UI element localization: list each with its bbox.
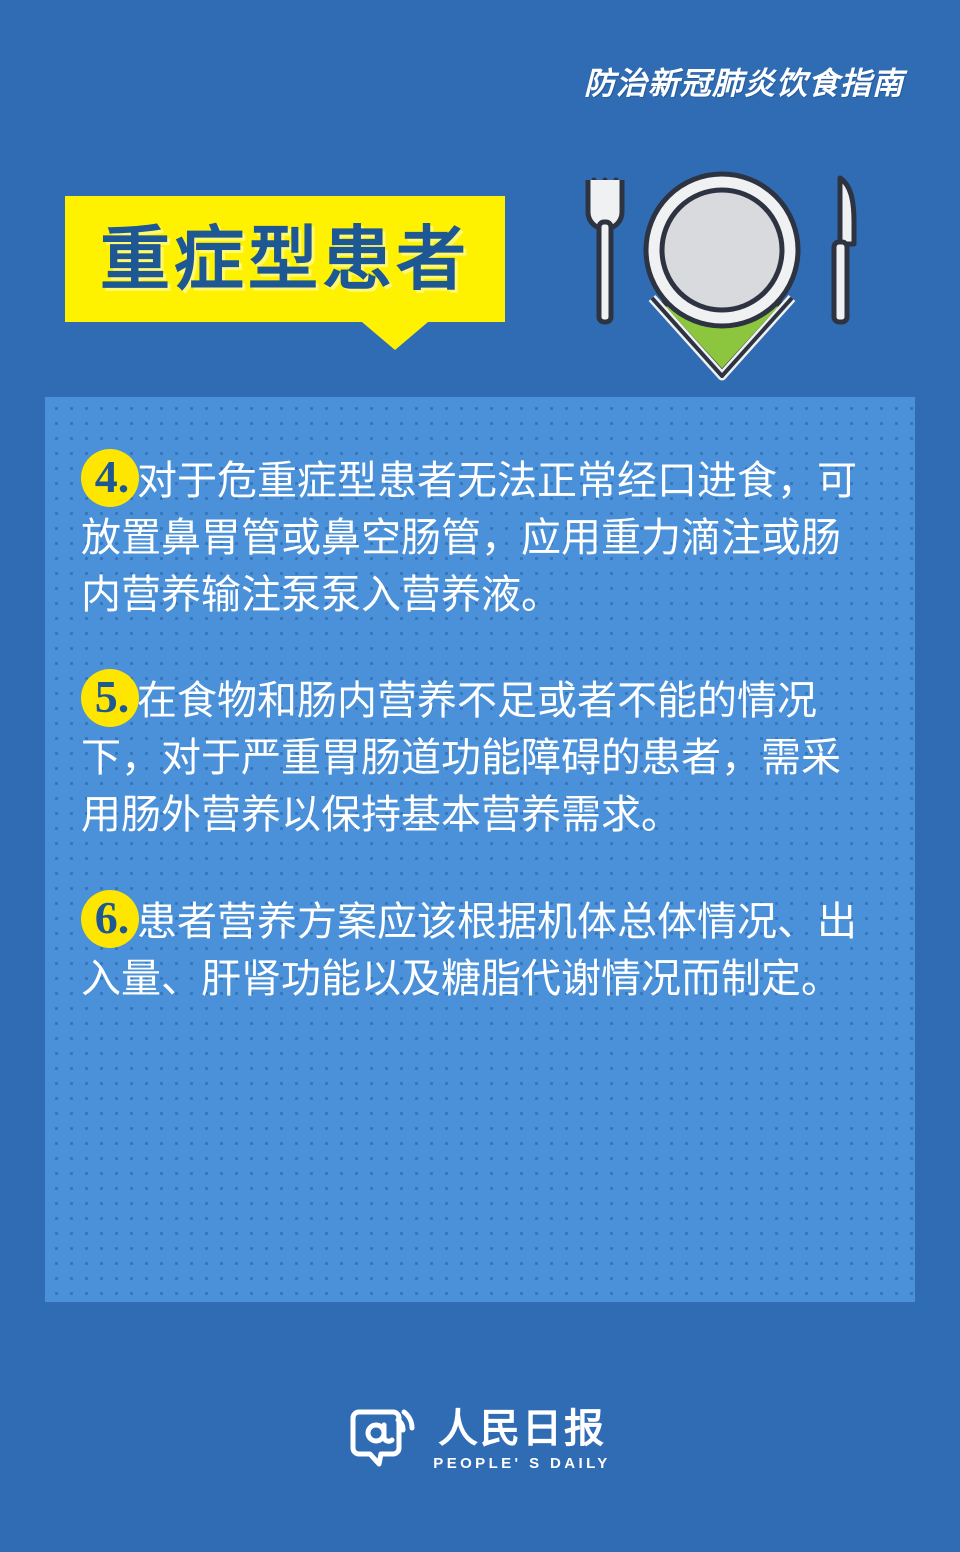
logo-text: 人民日报 PEOPLE' S DAILY	[433, 1409, 610, 1471]
footer-logo: 人民日报 PEOPLE' S DAILY	[0, 1392, 960, 1488]
fork-icon	[588, 180, 622, 322]
section-banner: 重症型患者	[65, 196, 505, 322]
plate-icon	[646, 174, 798, 326]
item-number-badge: 6.	[81, 890, 139, 948]
banner-label: 重症型患者	[65, 224, 505, 294]
page-title: 防治新冠肺炎饮食指南	[584, 58, 904, 103]
item-number-badge: 4.	[81, 449, 139, 507]
list-item-text: 6.患者营养方案应该根据机体总体情况、出入量、肝肾功能以及糖脂代谢情况而制定。	[81, 890, 879, 1008]
item-body: 患者营养方案应该根据机体总体情况、出入量、肝肾功能以及糖脂代谢情况而制定。	[81, 899, 857, 1001]
content-panel: 4.对于危重症型患者无法正常经口进食，可放置鼻胃管或鼻空肠管，应用重力滴注或肠内…	[45, 397, 915, 1302]
list-item: 5.在食物和肠内营养不足或者不能的情况下，对于严重胃肠道功能障碍的患者，需采用肠…	[81, 669, 879, 843]
list-item-text: 4.对于危重症型患者无法正常经口进食，可放置鼻胃管或鼻空肠管，应用重力滴注或肠内…	[81, 449, 879, 623]
knife-icon	[834, 178, 854, 322]
badge-number: 6.	[81, 890, 143, 948]
banner-tail-triangle	[362, 322, 428, 350]
brand-name-en: PEOPLE' S DAILY	[433, 1456, 610, 1471]
brand-name-cn: 人民日报	[438, 1409, 606, 1449]
item-number-badge: 5.	[81, 669, 139, 727]
fork-plate-knife-icon	[572, 162, 872, 382]
item-body: 在食物和肠内营养不足或者不能的情况下，对于严重胃肠道功能障碍的患者，需采用肠外营…	[81, 678, 841, 837]
at-speech-bubble-icon	[349, 1406, 423, 1474]
list-item-text: 5.在食物和肠内营养不足或者不能的情况下，对于严重胃肠道功能障碍的患者，需采用肠…	[81, 669, 879, 843]
poster-root: 防治新冠肺炎饮食指南 重症型患者	[0, 0, 960, 1552]
list-item: 6.患者营养方案应该根据机体总体情况、出入量、肝肾功能以及糖脂代谢情况而制定。	[81, 890, 879, 1008]
badge-number: 5.	[81, 669, 143, 727]
badge-number: 4.	[81, 449, 143, 507]
item-body: 对于危重症型患者无法正常经口进食，可放置鼻胃管或鼻空肠管，应用重力滴注或肠内营养…	[81, 458, 857, 617]
list-item: 4.对于危重症型患者无法正常经口进食，可放置鼻胃管或鼻空肠管，应用重力滴注或肠内…	[81, 449, 879, 623]
